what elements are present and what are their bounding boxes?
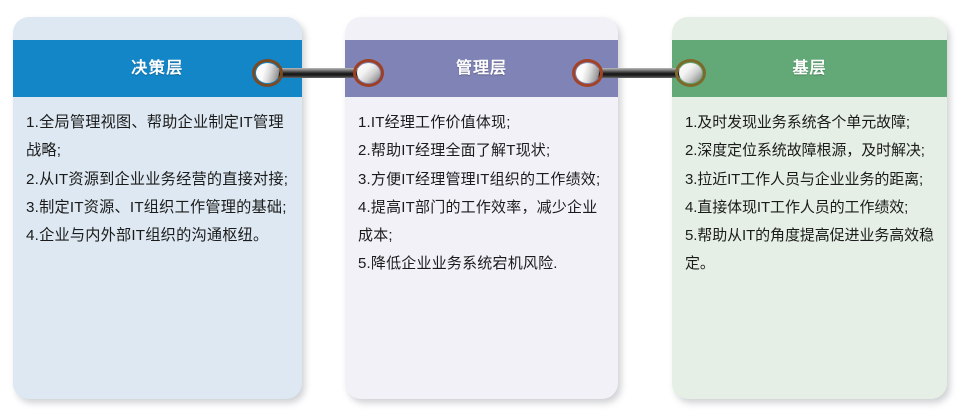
list-item: 2.帮助IT经理全面了解T现状; xyxy=(358,137,605,165)
list-item: 1.及时发现业务系统各个单元故障; xyxy=(685,109,934,137)
connector-ring-right-icon xyxy=(353,59,384,87)
list-item: 4.企业与内外部IT组织的沟通枢纽。 xyxy=(26,222,289,250)
connector-ring-left-icon xyxy=(252,59,283,87)
card-body-decision-layer: 1.全局管理视图、帮助企业制定IT管理战略; 2.从IT资源到企业业务经营的直接… xyxy=(13,97,302,250)
connector-ring-outline xyxy=(252,59,283,87)
connector-ring-outline xyxy=(572,59,603,87)
connector-ring-outline xyxy=(353,59,384,87)
diagram-canvas: 决策层 1.全局管理视图、帮助企业制定IT管理战略; 2.从IT资源到企业业务经… xyxy=(0,0,960,416)
connector-link-icon-decision-management xyxy=(252,59,384,87)
list-item: 2.深度定位系统故障根源，及时解决; xyxy=(685,137,934,165)
connector-ring-left-icon xyxy=(572,59,603,87)
card-title-management-layer: 管理层 xyxy=(456,61,507,77)
card-base-layer[interactable]: 基层 1.及时发现业务系统各个单元故障; 2.深度定位系统故障根源，及时解决; … xyxy=(672,17,947,399)
connector-ring-right-icon xyxy=(675,59,706,87)
card-title-decision-layer: 决策层 xyxy=(131,61,184,77)
card-title-base-layer: 基层 xyxy=(792,61,826,77)
list-item: 4.提高IT部门的工作效率，减少企业成本; xyxy=(358,194,605,251)
connector-ring-outline xyxy=(675,59,706,87)
list-item: 3.制定IT资源、IT组织工作管理的基础; xyxy=(26,194,289,222)
list-item: 4.直接体现IT工作人员的工作绩效; xyxy=(685,194,934,222)
connector-bar xyxy=(270,68,366,78)
connector-bar xyxy=(590,68,688,78)
list-item: 5.降低企业业务系统宕机风险. xyxy=(358,250,605,278)
list-item: 3.拉近IT工作人员与企业业务的距离; xyxy=(685,166,934,194)
card-body-base-layer: 1.及时发现业务系统各个单元故障; 2.深度定位系统故障根源，及时解决; 3.拉… xyxy=(672,97,947,279)
list-item: 2.从IT资源到企业业务经营的直接对接; xyxy=(26,166,289,194)
card-body-management-layer: 1.IT经理工作价值体现; 2.帮助IT经理全面了解T现状; 3.方便IT经理管… xyxy=(345,97,618,279)
list-item: 1.IT经理工作价值体现; xyxy=(358,109,605,137)
list-item: 3.方便IT经理管理IT组织的工作绩效; xyxy=(358,166,605,194)
card-header-base-layer: 基层 xyxy=(672,40,947,97)
list-item: 5.帮助从IT的角度提高促进业务高效稳定。 xyxy=(685,222,934,279)
connector-link-icon-management-base xyxy=(572,59,706,87)
list-item: 1.全局管理视图、帮助企业制定IT管理战略; xyxy=(26,109,289,166)
